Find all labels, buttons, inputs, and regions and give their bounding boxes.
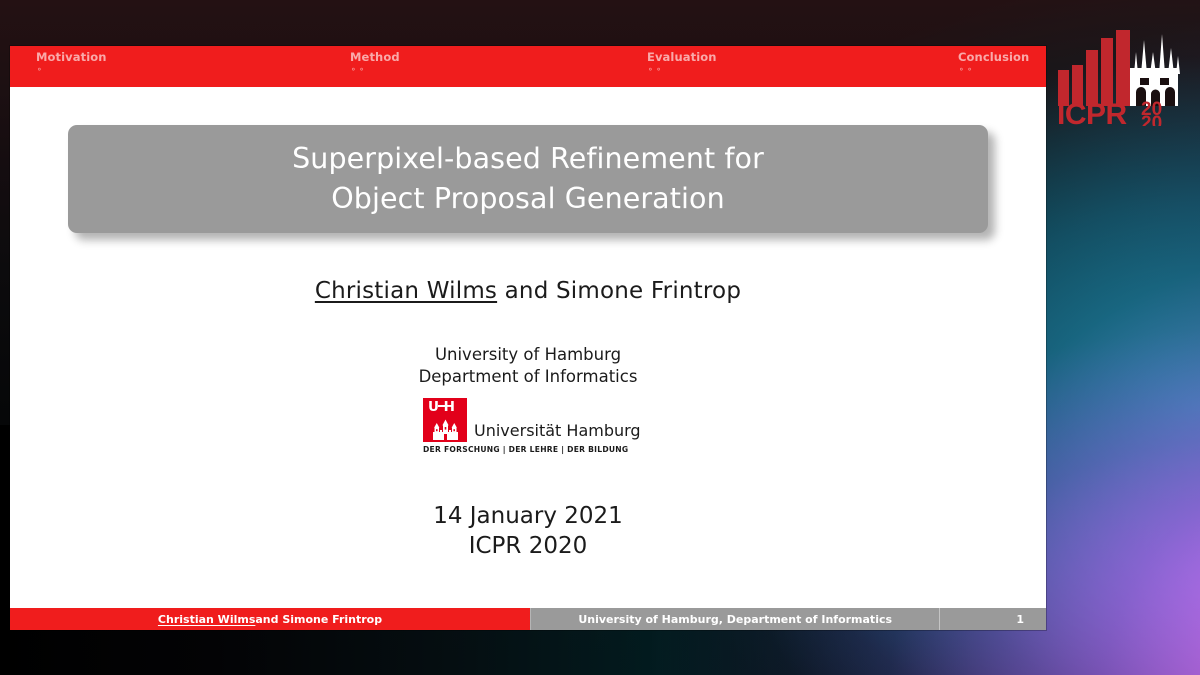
slide-footer: Christian Wilms and Simone Frintrop Univ… [10, 608, 1046, 630]
uhh-monogram-h: H [444, 399, 455, 415]
nav-section-label: Conclusion [958, 50, 1029, 64]
footer-coauthors: and Simone Frintrop [255, 613, 382, 626]
presenting-author: Christian Wilms [315, 278, 497, 304]
logo-row: UH [423, 398, 633, 442]
author-line: Christian Wilms and Simone Frintrop [10, 278, 1046, 304]
footer-page-number: 1 [939, 608, 1046, 630]
uhh-wordmark: Universität Hamburg [474, 423, 641, 442]
coauthors: and Simone Frintrop [497, 278, 741, 304]
icpr-logo-graphic: ICPR 20 20 [1056, 22, 1188, 126]
nav-section-label: Evaluation [647, 50, 717, 64]
event-block: 14 January 2021 ICPR 2020 [10, 502, 1046, 561]
slide-title: Superpixel-based Refinement for Object P… [292, 139, 764, 220]
hamburg-castle-icon [433, 418, 458, 440]
presentation-slide[interactable]: Motivation ⚬ Method ⚬⚬ Evaluation ⚬⚬ Con… [10, 46, 1046, 630]
affiliation-department: Department of Informatics [10, 366, 1046, 388]
screen: Motivation ⚬ Method ⚬⚬ Evaluation ⚬⚬ Con… [0, 0, 1200, 675]
nav-section-conclusion[interactable]: Conclusion ⚬⚬ [958, 50, 1029, 74]
event-date: 14 January 2021 [10, 502, 1046, 532]
event-conference: ICPR 2020 [10, 532, 1046, 562]
slide-title-line-2: Object Proposal Generation [292, 179, 764, 219]
uhh-red-square-icon: UH [423, 398, 467, 442]
nav-section-evaluation[interactable]: Evaluation ⚬⚬ [647, 50, 717, 74]
footer-affiliation: University of Hamburg, Department of Inf… [530, 608, 939, 630]
nav-section-dots[interactable]: ⚬⚬ [647, 66, 717, 74]
affiliation-university: University of Hamburg [10, 344, 1046, 366]
uhh-tagline: DER FORSCHUNG | DER LEHRE | DER BILDUNG [423, 445, 633, 454]
slide-title-block: Superpixel-based Refinement for Object P… [68, 125, 988, 233]
footer-presenting-author: Christian Wilms [158, 613, 255, 626]
icpr-year-bottom: 20 [1141, 113, 1162, 126]
nav-section-label: Method [350, 50, 400, 64]
footer-authors: Christian Wilms and Simone Frintrop [10, 608, 530, 630]
affiliation-block: University of Hamburg Department of Info… [10, 344, 1046, 388]
slide-title-line-1: Superpixel-based Refinement for [292, 139, 764, 179]
nav-section-method[interactable]: Method ⚬⚬ [350, 50, 400, 74]
university-hamburg-logo: UH [423, 398, 633, 454]
icpr-bars-icon [1058, 30, 1130, 106]
slide-navigation-bar: Motivation ⚬ Method ⚬⚬ Evaluation ⚬⚬ Con… [10, 46, 1046, 87]
nav-section-dots[interactable]: ⚬⚬ [350, 66, 400, 74]
nav-section-label: Motivation [36, 50, 107, 64]
nav-section-dots[interactable]: ⚬⚬ [958, 66, 1029, 74]
nav-section-dots[interactable]: ⚬ [36, 66, 107, 74]
icpr-conference-logo: ICPR 20 20 [1056, 22, 1188, 126]
uhh-monogram: UH [428, 401, 454, 415]
icpr-wordmark: ICPR [1057, 98, 1128, 126]
uhh-monogram-u: U [428, 399, 439, 415]
nav-section-motivation[interactable]: Motivation ⚬ [36, 50, 107, 74]
